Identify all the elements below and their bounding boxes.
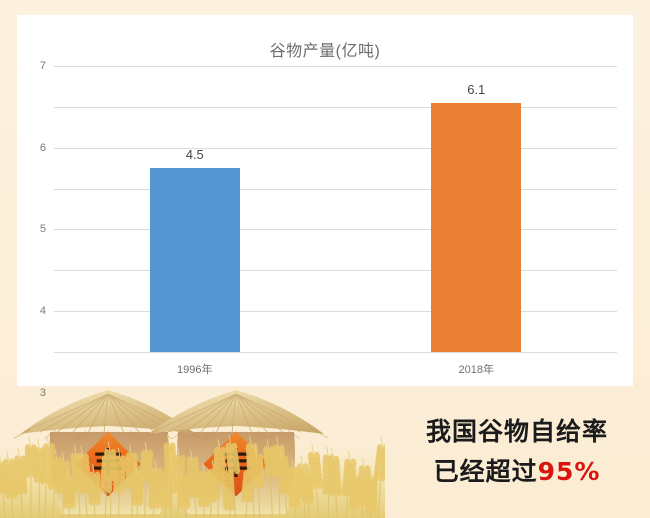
y-axis-tick-label: 5 [40,223,46,235]
caption-block: 我国谷物自给率 已经超过95% [392,412,642,492]
chart-gridline: 0 [54,352,617,353]
chart-gridline: 2 [54,270,617,271]
chart-gridline: 7 [54,66,617,67]
granary-wheat-illustration: 丰 丰 [0,386,385,518]
chart-bar[interactable]: 6.12018年 [431,103,521,352]
chart-gridline: 1 [54,311,617,312]
bar-value-label: 6.1 [467,82,485,97]
chart-plot-area: 012345674.51996年6.12018年 [54,66,617,352]
chart-gridline: 6 [54,107,617,108]
self-sufficiency-rate-highlight: 95% [538,457,601,486]
chart-gridline: 4 [54,189,617,190]
chart-gridline: 3 [54,229,617,230]
y-axis-tick-label: 4 [40,305,46,317]
granary-wheat-svg: 丰 丰 [0,386,385,518]
chart-card: 谷物产量(亿吨) 012345674.51996年6.12018年 [17,15,633,386]
caption-line-2-prefix: 已经超过 [434,457,538,486]
infographic-root: 谷物产量(亿吨) 012345674.51996年6.12018年 [0,0,650,518]
caption-line-1: 我国谷物自给率 [392,412,642,452]
chart-title: 谷物产量(亿吨) [17,37,633,61]
bar-value-label: 4.5 [186,147,204,162]
y-axis-tick-label: 7 [40,60,46,72]
x-axis-category-label: 1996年 [177,361,212,377]
caption-line-2: 已经超过95% [392,452,642,492]
y-axis-tick-label: 6 [40,142,46,154]
chart-bar[interactable]: 4.51996年 [150,168,240,352]
x-axis-category-label: 2018年 [459,361,494,377]
chart-gridline: 5 [54,148,617,149]
